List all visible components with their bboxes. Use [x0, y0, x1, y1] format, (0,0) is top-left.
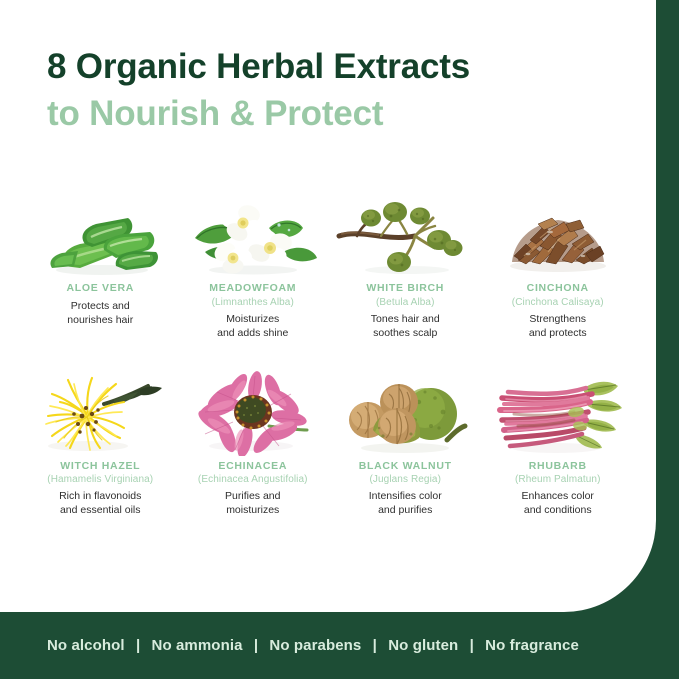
- extract-description: Protects and nourishes hair: [67, 299, 133, 327]
- extract-card-witch-hazel: WITCH HAZEL (Hamamelis Virginiana) Rich …: [24, 368, 177, 518]
- witch-hazel-icon: [30, 368, 170, 456]
- claim-no-alcohol: No alcohol: [47, 637, 125, 654]
- rhubarb-icon: [488, 368, 628, 456]
- white-birch-icon: [335, 190, 475, 278]
- title-line-secondary: to Nourish & Protect: [47, 90, 627, 138]
- extract-name: ECHINACEA: [218, 460, 287, 474]
- claim-no-parabens: No parabens: [269, 637, 361, 654]
- extract-name: WITCH HAZEL: [60, 460, 140, 474]
- extract-latin-name: (Cinchona Calisaya): [512, 296, 604, 309]
- extract-description: Purifies and moisturizes: [225, 489, 280, 517]
- extract-card-rhubarb: RHUBARB (Rheum Palmatun) Enhances color …: [482, 368, 635, 518]
- extract-description: Enhances color and conditions: [522, 489, 594, 517]
- claim-separator: |: [129, 637, 147, 654]
- extract-latin-name: (Juglans Regia): [369, 473, 441, 486]
- claims-footer-bar: No alcohol | No ammonia | No parabens | …: [0, 612, 679, 679]
- black-walnut-icon: [335, 368, 475, 456]
- title-line-primary: 8 Organic Herbal Extracts: [47, 44, 627, 90]
- extract-latin-name: (Hamamelis Virginiana): [47, 473, 153, 486]
- extract-card-white-birch: WHITE BIRCH (Betula Alba) Tones hair and…: [329, 190, 482, 340]
- extract-card-meadowfoam: MEADOWFOAM (Limnanthes Alba) Moisturizes…: [177, 190, 330, 340]
- extract-latin-name: (Limnanthes Alba): [212, 296, 294, 309]
- claim-separator: |: [366, 637, 384, 654]
- extract-latin-name: (Betula Alba): [376, 296, 435, 309]
- claim-separator: |: [247, 637, 265, 654]
- extract-name: ALOE VERA: [66, 282, 134, 296]
- extract-description: Strengthens and protects: [529, 312, 587, 340]
- extract-card-cinchona: CINCHONA (Cinchona Calisaya) Strengthens…: [482, 190, 635, 340]
- echinacea-icon: [183, 368, 323, 456]
- extract-description: Rich in flavonoids and essential oils: [59, 489, 141, 517]
- extract-name: CINCHONA: [527, 282, 589, 296]
- extract-name: RHUBARB: [529, 460, 587, 474]
- extract-name: WHITE BIRCH: [366, 282, 444, 296]
- extract-card-black-walnut: BLACK WALNUT (Juglans Regia) Intensifies…: [329, 368, 482, 518]
- extracts-grid: ALOE VERA Protects and nourishes hair: [24, 190, 634, 517]
- extract-description: Moisturizes and adds shine: [217, 312, 288, 340]
- aloe-vera-icon: [30, 190, 170, 278]
- claims-list: No alcohol | No ammonia | No parabens | …: [47, 637, 579, 654]
- claim-no-fragrance: No fragrance: [485, 637, 579, 654]
- extract-latin-name: (Rheum Palmatun): [515, 473, 601, 486]
- extract-name: BLACK WALNUT: [359, 460, 452, 474]
- extract-card-aloe-vera: ALOE VERA Protects and nourishes hair: [24, 190, 177, 340]
- extract-latin-name: (Echinacea Angustifolia): [198, 473, 308, 486]
- extract-card-echinacea: ECHINACEA (Echinacea Angustifolia) Purif…: [177, 368, 330, 518]
- extract-name: MEADOWFOAM: [209, 282, 296, 296]
- claim-no-gluten: No gluten: [388, 637, 458, 654]
- meadowfoam-icon: [183, 190, 323, 278]
- claim-no-ammonia: No ammonia: [152, 637, 243, 654]
- claim-separator: |: [463, 637, 481, 654]
- page-title: 8 Organic Herbal Extracts to Nourish & P…: [47, 44, 627, 138]
- extract-description: Intensifies color and purifies: [369, 489, 442, 517]
- herbal-extracts-infographic: 8 Organic Herbal Extracts to Nourish & P…: [0, 0, 679, 679]
- extract-description: Tones hair and soothes scalp: [371, 312, 440, 340]
- cinchona-icon: [488, 190, 628, 278]
